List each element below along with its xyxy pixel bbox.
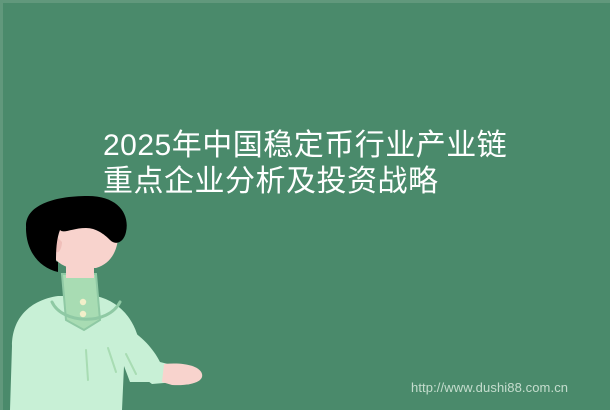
hand: [162, 363, 202, 385]
promo-banner: 2025年中国稳定币行业产业链 重点企业分析及投资战略 http://www.d…: [0, 0, 610, 410]
title-line-2: 重点企业分析及投资战略: [103, 164, 563, 200]
person-pointing-illustration: [0, 196, 210, 410]
banner-title: 2025年中国稳定币行业产业链 重点企业分析及投资战略: [103, 128, 563, 200]
title-line-1: 2025年中国稳定币行业产业链: [103, 128, 563, 164]
banner-top-edge: [0, 0, 610, 3]
collar-button-bottom: [80, 311, 86, 317]
collar-button-top: [80, 299, 86, 305]
watermark-url: http://www.dushi88.com.cn: [411, 380, 568, 396]
